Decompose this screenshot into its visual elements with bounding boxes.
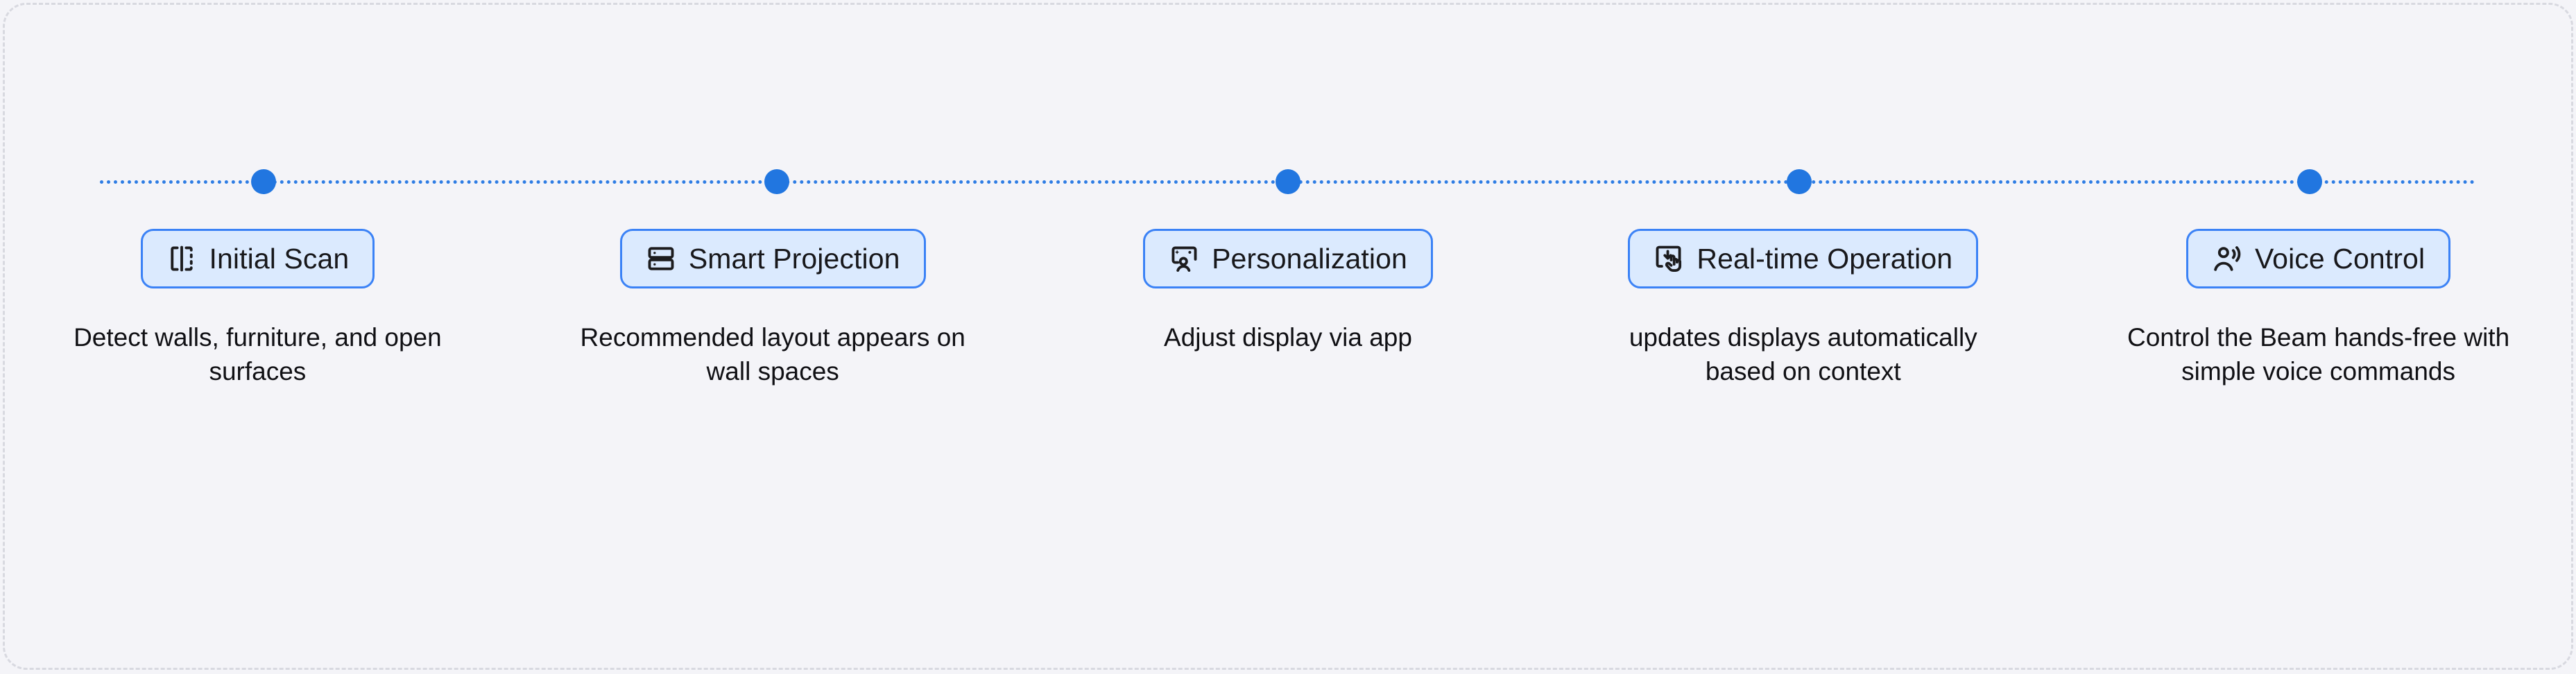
step-smart-projection: Smart Projection Recommended layout appe… <box>515 229 1031 388</box>
step-3-label: Personalization <box>1212 245 1407 273</box>
timeline-infographic: Initial Scan Detect walls, furniture, an… <box>0 0 2576 674</box>
step-1-pill[interactable]: Initial Scan <box>141 229 375 288</box>
step-initial-scan: Initial Scan Detect walls, furniture, an… <box>0 229 515 388</box>
step-5-description: Control the Beam hands-free with simple … <box>2124 320 2513 388</box>
step-4-label: Real-time Operation <box>1697 245 1952 273</box>
step-real-time-operation: Real-time Operation updates displays aut… <box>1545 229 2061 388</box>
step-3-description: Adjust display via app <box>1164 320 1412 354</box>
step-4-pill[interactable]: Real-time Operation <box>1628 229 1978 288</box>
step-4-description: updates displays automatically based on … <box>1609 320 1998 388</box>
step-2-pill[interactable]: Smart Projection <box>620 229 926 288</box>
scan-icon <box>166 243 197 274</box>
user-screen-sparkle-icon <box>1169 243 1199 274</box>
timeline-dot-5[interactable] <box>2297 169 2322 194</box>
step-voice-control: Voice Control Control the Beam hands-fre… <box>2061 229 2576 388</box>
step-personalization: Personalization Adjust display via app <box>1031 229 1546 354</box>
server-rack-icon <box>646 243 676 274</box>
step-5-label: Voice Control <box>2255 245 2425 273</box>
tap-download-icon <box>1654 243 1684 274</box>
step-5-pill[interactable]: Voice Control <box>2186 229 2450 288</box>
timeline-dot-4[interactable] <box>1787 169 1812 194</box>
step-2-label: Smart Projection <box>689 245 900 273</box>
step-2-description: Recommended layout appears on wall space… <box>578 320 967 388</box>
timeline-track <box>100 179 2476 184</box>
step-1-label: Initial Scan <box>209 245 350 273</box>
steps-row: Initial Scan Detect walls, furniture, an… <box>0 229 2576 388</box>
person-voice-icon <box>2212 243 2242 274</box>
step-3-pill[interactable]: Personalization <box>1143 229 1433 288</box>
timeline-dot-3[interactable] <box>1276 169 1300 194</box>
step-1-description: Detect walls, furniture, and open surfac… <box>63 320 452 388</box>
